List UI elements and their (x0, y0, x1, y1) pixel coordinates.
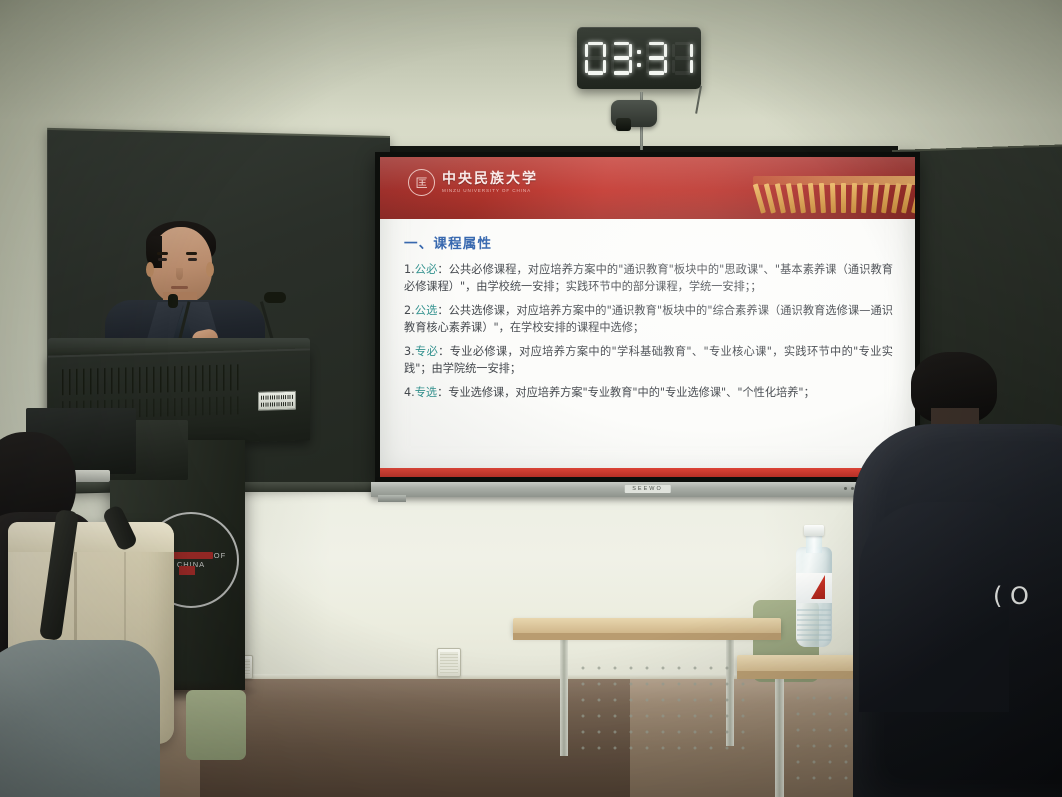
interactive-flat-panel[interactable]: 匡 中央民族大学 MINZU UNIVERSITY OF CHINA (375, 152, 920, 482)
student-jacket-logo: ( O (993, 584, 1029, 608)
university-logo: 匡 中央民族大学 MINZU UNIVERSITY OF CHINA (408, 169, 538, 196)
desk-frame-perforation-a (575, 660, 745, 756)
paragraph-index-4: 4. (404, 386, 415, 399)
clock-digit-m2 (672, 42, 693, 75)
logo-chinese-name: 中央民族大学 (442, 172, 538, 186)
clock-display (585, 42, 693, 75)
paragraph-keyword-2: 公选 (415, 304, 438, 317)
paragraph-text-1: ：公共必修课程，对应培养方案中的"通识教育"板块中的"思政课"、"基本素养课（通… (404, 263, 893, 293)
bottle-cap (804, 525, 824, 536)
paragraph-text-3: ：专业必修课，对应培养方案中的"学科基础教育"、"专业核心课"，实践环节中的"专… (404, 345, 893, 375)
clock-digit-h2 (611, 42, 632, 75)
presenter-brow-right (186, 252, 197, 255)
foreground-attendee (0, 640, 160, 797)
logo-text-group: 中央民族大学 MINZU UNIVERSITY OF CHINA (442, 172, 538, 194)
paragraph-text-2: ：公共选修课，对应培养方案中的"通识教育"板块中的"综合素养课（通识教育选修课—… (404, 304, 893, 334)
paragraph-index-1: 1. (404, 263, 415, 276)
tote-bag-fold (8, 522, 174, 552)
presenter-brow-left (157, 252, 168, 255)
logo-english-name: MINZU UNIVERSITY OF CHINA (442, 189, 538, 194)
eaves-ornament-icon (753, 161, 915, 219)
panel-bezel: SEEWO (371, 482, 924, 497)
jacket-logo-text: ( O (993, 584, 1029, 608)
seated-student: ( O (853, 352, 1062, 797)
lecture-hall-photo: 匡 中央民族大学 MINZU UNIVERSITY OF CHINA (0, 0, 1062, 797)
chair-backrest-left (186, 690, 246, 760)
desk-leg-c (775, 673, 784, 797)
bottle-ribs (797, 609, 831, 643)
university-emblem-icon: 匡 (408, 169, 435, 196)
presenter-ear-right (206, 262, 214, 277)
paragraph-index-2: 2. (404, 304, 415, 317)
slide-accent-bar (380, 468, 915, 477)
microphone-head-left (168, 294, 178, 308)
slide-paragraph-1: 1.公必：公共必修课程，对应培养方案中的"通识教育"板块中的"思政课"、"基本素… (404, 261, 893, 295)
clock-colon (637, 50, 641, 67)
presenter-eye-left (158, 258, 167, 261)
panel-brand-label: SEEWO (624, 485, 670, 493)
student-shoulder (859, 502, 1009, 712)
student-desk-left-edge (513, 633, 781, 640)
emblem-glyph: 匡 (415, 177, 427, 189)
wall-switch (437, 648, 461, 677)
slide-paragraph-2: 2.公选：公共选修课，对应培养方案中的"通识教育"板块中的"综合素养课（通识教育… (404, 302, 893, 336)
digital-wall-clock (577, 27, 701, 89)
seal-bar-lower (179, 566, 195, 575)
paragraph-index-3: 3. (404, 345, 415, 358)
lectern-asset-label (258, 391, 296, 411)
lectern-vent-upper (62, 364, 240, 395)
microphone-head-right (264, 292, 286, 303)
ceiling-shadow (0, 0, 1062, 120)
slide-paragraph-4: 4.专选：专业选修课，对应培养方案"专业教育"中的"专业选修课"、"个性化培养"… (404, 384, 893, 401)
presentation-slide: 匡 中央民族大学 MINZU UNIVERSITY OF CHINA (380, 157, 915, 477)
slide-body: 一、课程属性 1.公必：公共必修课程，对应培养方案中的"通识教育"板块中的"思政… (380, 219, 915, 401)
camera-lens-icon (616, 118, 631, 131)
paragraph-text-4: ：专业选修课，对应培养方案"专业教育"中的"专业选修课"、"个性化培养"； (437, 386, 815, 399)
slide-header: 匡 中央民族大学 MINZU UNIVERSITY OF CHINA (380, 157, 915, 219)
slide-title: 一、课程属性 (404, 232, 893, 252)
panel-foot-left (378, 495, 406, 502)
paragraph-keyword-1: 公必 (415, 263, 438, 276)
desk-leg-a (560, 636, 568, 756)
presenter-nose (176, 268, 183, 280)
presenter-mouth (171, 286, 188, 289)
paragraph-keyword-3: 专必 (415, 345, 438, 358)
bottle-neck (806, 533, 822, 553)
paragraph-keyword-4: 专选 (415, 386, 437, 399)
slide-paragraph-3: 3.专必：专业必修课，对应培养方案中的"学科基础教育"、"专业核心课"，实践环节… (404, 343, 893, 377)
clock-digit-m1 (646, 42, 667, 75)
clock-digit-h1 (585, 42, 606, 75)
presenter-ear-left (146, 262, 154, 277)
water-bottle (793, 525, 835, 647)
presenter-eye-right (188, 258, 197, 261)
